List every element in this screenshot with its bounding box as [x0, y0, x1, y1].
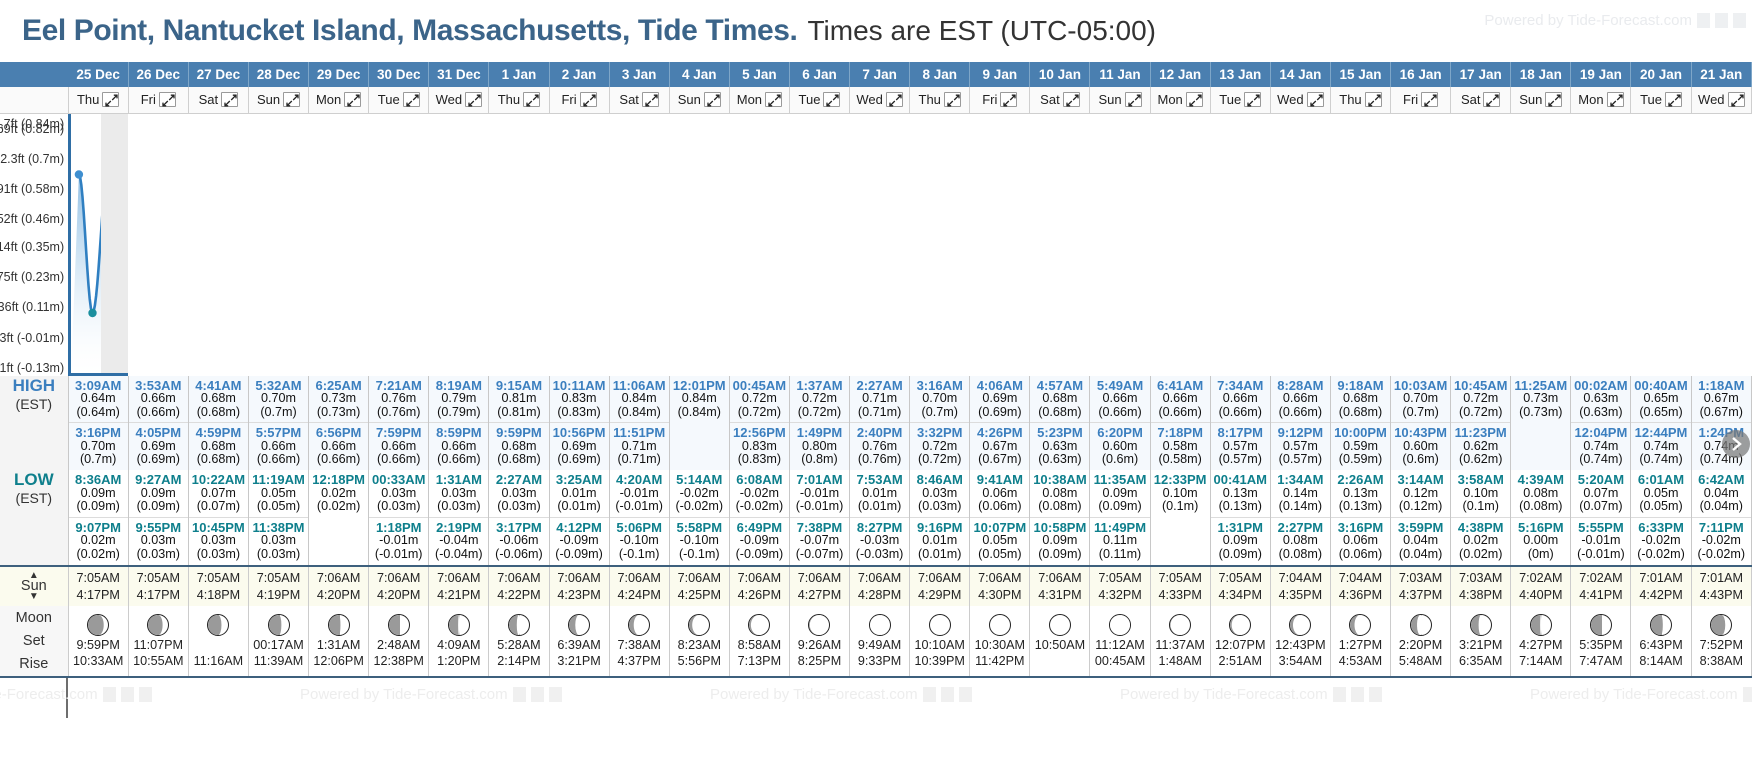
low-tide-cell: 3:25AM0.01m(0.01m)4:12PM-0.09m(-0.09m): [549, 470, 609, 566]
date-header-25[interactable]: 19 Jan: [1571, 62, 1631, 87]
expand-icon[interactable]: [1186, 92, 1203, 107]
moonset-time: 2:20PM: [1399, 638, 1442, 652]
moonset-time: 10:30AM: [975, 638, 1025, 652]
tide-height: 0.70m: [1391, 392, 1450, 406]
sunrise-time: 7:06AM: [670, 571, 729, 585]
date-label: 31 Dec: [437, 67, 481, 82]
tide-height: 0.72m: [790, 392, 849, 406]
sunset-time: 4:31PM: [1030, 588, 1089, 602]
expand-icon[interactable]: [1307, 92, 1324, 107]
sun-cell: 7:06AM4:25PM: [669, 566, 729, 606]
tide-time: 1:31AM: [429, 473, 488, 487]
moon-phase-icon: [1229, 614, 1251, 636]
low-tide-cell: 11:19AM0.05m(0.05m)11:38PM0.03m(0.03m): [248, 470, 308, 566]
tide-event: 5:20AM0.07m(0.07m): [1571, 470, 1630, 518]
date-header-1[interactable]: 26 Dec: [128, 62, 188, 87]
tide-height-alt: (-0.04m): [429, 548, 488, 562]
dow-label: Sun: [1098, 92, 1121, 107]
dow-label: Tue: [378, 92, 400, 107]
tide-time: 6:49PM: [730, 521, 789, 535]
tide-time: 10:11AM: [550, 379, 609, 393]
dow-label: Sat: [199, 92, 219, 107]
moon-phase-icon: [929, 614, 951, 636]
tide-height-alt: (0.57m): [1211, 453, 1270, 467]
date-header-20[interactable]: 14 Jan: [1270, 62, 1330, 87]
tide-event: 3:58AM0.10m(0.1m): [1451, 470, 1510, 518]
high-tide-cell: 3:16AM0.70m(0.7m)3:32PM0.72m(0.72m): [910, 376, 970, 471]
tide-event: 5:06PM-0.10m(-0.1m): [610, 518, 669, 565]
moonrise-time: 11:39AM: [254, 654, 303, 668]
tide-height-alt: (0.68m): [1331, 406, 1390, 420]
tide-event: 00:40AM0.65m(0.65m): [1631, 376, 1690, 424]
watermark-badge-icon: [959, 687, 972, 702]
expand-icon[interactable]: [886, 92, 903, 107]
expand-icon[interactable]: [523, 92, 540, 107]
tide-height: -0.06m: [489, 534, 548, 548]
watermark-badge-icon: [1369, 687, 1382, 702]
tide-height: 0.11m: [1090, 534, 1149, 548]
sunset-time: 4:36PM: [1331, 588, 1390, 602]
date-label: 20 Jan: [1640, 67, 1682, 82]
expand-icon[interactable]: [1244, 92, 1261, 107]
date-header-18[interactable]: 12 Jan: [1150, 62, 1210, 87]
tide-height-alt: (-0.02m): [730, 500, 789, 514]
low-tide-cell: 5:20AM0.07m(0.07m)5:55PM-0.01m(-0.01m): [1571, 470, 1631, 566]
moon-cell: 10:10AM10:39PM: [910, 606, 970, 677]
date-header-7[interactable]: 1 Jan: [489, 62, 549, 87]
tide-height: 0.12m: [1391, 487, 1450, 501]
high-tide-cell: 11:06AM0.84m(0.84m)11:51PM0.71m(0.71m): [609, 376, 669, 471]
expand-icon[interactable]: [344, 92, 361, 107]
scroll-right-button[interactable]: [1722, 430, 1750, 458]
expand-icon[interactable]: [1063, 92, 1080, 107]
tide-height-alt: (-0.01m): [369, 548, 428, 562]
tide-time: 6:20PM: [1090, 426, 1149, 440]
date-header-24[interactable]: 18 Jan: [1511, 62, 1571, 87]
tide-height: 0.05m: [970, 534, 1029, 548]
watermark-badge-icon: [941, 687, 954, 702]
date-label: 10 Jan: [1039, 67, 1081, 82]
tide-event: 5:55PM-0.01m(-0.01m): [1571, 518, 1630, 565]
tide-height: 0.05m: [249, 487, 308, 501]
expand-icon[interactable]: [1483, 92, 1500, 107]
watermark-badge-icon: [139, 687, 152, 702]
tide-event: 9:59PM0.68m(0.68m): [489, 423, 548, 470]
sun-cell: 7:05AM4:17PM: [68, 566, 128, 606]
tide-height-alt: (0.08m): [1030, 500, 1089, 514]
tide-height: 0.66m: [1090, 392, 1149, 406]
expand-icon[interactable]: [1607, 92, 1624, 107]
tide-height-alt: (0.72m): [1451, 406, 1510, 420]
tide-event: 6:08AM-0.02m(-0.02m): [730, 470, 789, 518]
moonrise-time: 8:14AM: [1639, 654, 1682, 668]
tide-height-alt: (0.66m): [369, 453, 428, 467]
sunrise-time: 7:01AM: [1692, 571, 1751, 585]
date-header-9[interactable]: 3 Jan: [609, 62, 669, 87]
date-label: 25 Dec: [76, 67, 120, 82]
date-header-10[interactable]: 4 Jan: [669, 62, 729, 87]
moon-phase-icon: [1169, 614, 1191, 636]
tide-height-alt: (-0.09m): [550, 548, 609, 562]
tide-height: 0.83m: [730, 440, 789, 454]
tide-height-alt: (0.57m): [1271, 453, 1330, 467]
dow-cell-8: Fri: [549, 87, 609, 113]
watermark-badge-icon: [121, 687, 134, 702]
y-axis: 2.7ft (0.84m)2.69ft (0.82m)2.3ft (0.7m)1…: [0, 114, 68, 376]
tide-time: 9:15AM: [489, 379, 548, 393]
tide-height: 0.08m: [1271, 534, 1330, 548]
low-tide-cell: 2:27AM0.03m(0.03m)3:17PM-0.06m(-0.06m): [489, 470, 549, 566]
tide-time: 5:16PM: [1511, 521, 1570, 535]
low-tide-cell: 4:20AM-0.01m(-0.01m)5:06PM-0.10m(-0.1m): [609, 470, 669, 566]
low-tide-cell: 1:34AM0.14m(0.14m)2:27PM0.08m(0.08m): [1270, 470, 1330, 566]
tide-event: 3:14AM0.12m(0.12m): [1391, 470, 1450, 518]
low-tide-label: LOW (EST): [0, 470, 68, 566]
high-tide-cell: 3:53AM0.66m(0.66m)4:05PM0.69m(0.69m): [128, 376, 188, 471]
tide-time: 10:07PM: [970, 521, 1029, 535]
low-tide-cell: 5:14AM-0.02m(-0.02m)5:58PM-0.10m(-0.1m): [669, 470, 729, 566]
tide-height: 0.10m: [1451, 487, 1510, 501]
chevron-right-icon: [1731, 437, 1742, 451]
expand-icon[interactable]: [580, 92, 597, 107]
date-header-16[interactable]: 10 Jan: [1030, 62, 1090, 87]
date-label: 12 Jan: [1159, 67, 1201, 82]
date-header-4[interactable]: 29 Dec: [309, 62, 369, 87]
tide-height: 0.03m: [429, 487, 488, 501]
tide-height-alt: (0.84m): [670, 406, 729, 420]
tide-time: 9:18AM: [1331, 379, 1390, 393]
dow-cell-10: Sun: [669, 87, 729, 113]
sunrise-time: 7:06AM: [309, 571, 368, 585]
expand-icon[interactable]: [221, 92, 238, 107]
dow-label: Sat: [1040, 92, 1060, 107]
tide-event: 12:44PM0.74m(0.74m): [1631, 423, 1690, 470]
sunrise-time: 7:02AM: [1571, 571, 1630, 585]
expand-icon[interactable]: [1421, 92, 1438, 107]
tide-time: 3:58AM: [1451, 473, 1510, 487]
moon-phase-icon: [1289, 614, 1311, 636]
tide-height-alt: (0.09m): [1090, 500, 1149, 514]
low-tide-cell: 1:31AM0.03m(0.03m)2:19PM-0.04m(-0.04m): [429, 470, 489, 566]
tide-time: 4:38PM: [1451, 521, 1510, 535]
tide-event: 5:57PM0.66m(0.66m): [249, 423, 308, 470]
dow-label: Thu: [1339, 92, 1361, 107]
date-header-22[interactable]: 16 Jan: [1391, 62, 1451, 87]
moon-row: Moon Set Rise 9:59PM10:33AM11:07PM10:55A…: [0, 606, 1752, 677]
dow-cell-0: Thu: [68, 87, 128, 113]
tide-time: 8:17PM: [1211, 426, 1270, 440]
tide-height: 0.03m: [129, 534, 188, 548]
tide-time: 5:49AM: [1090, 379, 1149, 393]
tide-height: 0.67m: [1692, 392, 1751, 406]
moon-phase-icon: [508, 614, 530, 636]
tide-height: 0.03m: [369, 487, 428, 501]
dow-label: Tue: [799, 92, 821, 107]
expand-icon[interactable]: [642, 92, 659, 107]
expand-icon[interactable]: [704, 92, 721, 107]
dow-label: Fri: [141, 92, 156, 107]
tide-height-alt: (-0.01m): [790, 500, 849, 514]
date-header-14[interactable]: 8 Jan: [910, 62, 970, 87]
tide-height-alt: (-0.02m): [670, 500, 729, 514]
moon-phase-icon: [207, 614, 229, 636]
tide-time: 10:58PM: [1030, 521, 1089, 535]
date-label: 13 Jan: [1219, 67, 1261, 82]
date-header-21[interactable]: 15 Jan: [1330, 62, 1390, 87]
tide-height: 0.03m: [489, 487, 548, 501]
dow-label: Tue: [1219, 92, 1241, 107]
tide-time: 9:16PM: [910, 521, 969, 535]
sun-cell: 7:05AM4:18PM: [188, 566, 248, 606]
sun-cell: 7:01AM4:42PM: [1631, 566, 1691, 606]
date-header-12[interactable]: 6 Jan: [789, 62, 849, 87]
sunset-time: 4:27PM: [790, 588, 849, 602]
date-label: 21 Jan: [1700, 67, 1742, 82]
tide-height: -0.09m: [550, 534, 609, 548]
tide-height-alt: (0.01m): [910, 548, 969, 562]
y-axis-tick-label: -0.41ft (-0.13m): [0, 361, 64, 375]
tide-event: 6:25AM0.73m(0.73m): [309, 376, 368, 424]
tide-event: 8:36AM0.09m(0.09m): [69, 470, 128, 518]
tide-time: 5:23PM: [1030, 426, 1089, 440]
expand-icon[interactable]: [765, 92, 782, 107]
tide-event: 3:53AM0.66m(0.66m): [129, 376, 188, 424]
dow-label: Mon: [1578, 92, 1603, 107]
tide-height: 0.67m: [970, 440, 1029, 454]
tide-height: 0.02m: [1451, 534, 1510, 548]
y-axis-cell: 2.7ft (0.84m)2.69ft (0.82m)2.3ft (0.7m)1…: [0, 113, 68, 376]
tide-height: 0.72m: [730, 392, 789, 406]
dow-label: Mon: [316, 92, 341, 107]
sunset-time: 4:43PM: [1692, 588, 1751, 602]
date-header-27[interactable]: 21 Jan: [1691, 62, 1751, 87]
date-header-6[interactable]: 31 Dec: [429, 62, 489, 87]
moonrise-time: 8:25PM: [798, 654, 841, 668]
tide-height-alt: (0.06m): [1331, 548, 1390, 562]
tide-event: 3:16PM0.70m(0.7m): [69, 423, 128, 470]
expand-icon[interactable]: [102, 92, 119, 107]
tide-event: 2:27AM0.03m(0.03m): [489, 470, 548, 518]
moonrise-time: 10:33AM: [73, 654, 123, 668]
tide-time: 1:49PM: [790, 426, 849, 440]
sunrise-time: 7:02AM: [1511, 571, 1570, 585]
tide-height: -0.01m: [1571, 534, 1630, 548]
high-tide-cell: 1:37AM0.72m(0.72m)1:49PM0.80m(0.8m): [789, 376, 849, 471]
tide-event: 10:58PM0.09m(0.09m): [1030, 518, 1089, 565]
tide-event: 4:05PM0.69m(0.69m): [129, 423, 188, 470]
dow-label: Sat: [1461, 92, 1481, 107]
tide-height-alt: (0.12m): [1391, 500, 1450, 514]
dow-cell-14: Thu: [910, 87, 970, 113]
tide-time: 6:56PM: [309, 426, 368, 440]
tide-event: 7:34AM0.66m(0.66m): [1211, 376, 1270, 424]
tide-event: 10:43PM0.60m(0.6m): [1391, 423, 1450, 470]
dow-cell-21: Thu: [1330, 87, 1390, 113]
dow-cell-12: Tue: [789, 87, 849, 113]
tide-event: 12:18PM0.02m(0.02m): [309, 470, 368, 517]
tide-height-alt: (0.73m): [309, 406, 368, 420]
tide-event: 2:27PM0.08m(0.08m): [1271, 518, 1330, 565]
tide-height-alt: (0.03m): [189, 548, 248, 562]
date-header-15[interactable]: 9 Jan: [970, 62, 1030, 87]
tide-time: 5:32AM: [249, 379, 308, 393]
moonset-time: 1:31AM: [317, 638, 360, 652]
expand-icon[interactable]: [403, 92, 420, 107]
tide-height-alt: (0.83m): [730, 453, 789, 467]
tide-height: 0.70m: [69, 440, 128, 454]
tide-height-alt: (0.66m): [309, 453, 368, 467]
dow-cell-22: Fri: [1391, 87, 1451, 113]
date-header-2[interactable]: 27 Dec: [188, 62, 248, 87]
dow-cell-18: Mon: [1150, 87, 1210, 113]
tide-event: 6:20PM0.60m(0.6m): [1090, 423, 1149, 470]
low-label-text: LOW: [0, 470, 68, 490]
tide-chart: [68, 113, 128, 376]
sunrise-time: 7:06AM: [1030, 571, 1089, 585]
expand-icon[interactable]: [944, 92, 961, 107]
tide-event: 9:18AM0.68m(0.68m): [1331, 376, 1390, 424]
tide-time: 1:37AM: [790, 379, 849, 393]
tide-event: 6:33PM-0.02m(-0.02m): [1631, 518, 1690, 565]
date-label: 6 Jan: [802, 67, 837, 82]
date-label: 3 Jan: [622, 67, 657, 82]
tide-table: 25 Dec26 Dec27 Dec28 Dec29 Dec30 Dec31 D…: [0, 62, 1752, 678]
chart-row: 2.7ft (0.84m)2.69ft (0.82m)2.3ft (0.7m)1…: [0, 113, 1752, 376]
tide-event: 10:45AM0.72m(0.72m): [1451, 376, 1510, 424]
high-tide-cell: 2:27AM0.71m(0.71m)2:40PM0.76m(0.76m): [850, 376, 910, 471]
date-header-5[interactable]: 30 Dec: [369, 62, 429, 87]
tide-time: 4:57AM: [1030, 379, 1089, 393]
tide-height-alt: (0.72m): [790, 406, 849, 420]
dow-label: Wed: [856, 92, 883, 107]
date-header-17[interactable]: 11 Jan: [1090, 62, 1150, 87]
tide-height: 0.71m: [850, 392, 909, 406]
tide-event: 9:07PM0.02m(0.02m): [69, 518, 128, 565]
tide-height-alt: (0.84m): [610, 406, 669, 420]
tide-height: 0.07m: [189, 487, 248, 501]
expand-icon[interactable]: [1125, 92, 1142, 107]
date-header-26[interactable]: 20 Jan: [1631, 62, 1691, 87]
moonset-time: 7:38AM: [617, 638, 660, 652]
expand-icon[interactable]: [159, 92, 176, 107]
sun-cell: 7:05AM4:17PM: [128, 566, 188, 606]
tide-time: 2:27PM: [1271, 521, 1330, 535]
date-header-8[interactable]: 2 Jan: [549, 62, 609, 87]
date-header-19[interactable]: 13 Jan: [1210, 62, 1270, 87]
tide-time: 11:49PM: [1090, 521, 1149, 535]
high-tide-cell: 4:57AM0.68m(0.68m)5:23PM0.63m(0.63m): [1030, 376, 1090, 471]
sun-row: ▲ Sun ▼ 7:05AM4:17PM7:05AM4:17PM7:05AM4:…: [0, 566, 1752, 606]
tide-height: 0.03m: [249, 534, 308, 548]
moonset-time: 6:39AM: [557, 638, 600, 652]
footer-watermark: Powered by Tide-Forecast.com: [300, 686, 562, 703]
expand-icon[interactable]: [1545, 92, 1562, 107]
sun-cell: 7:06AM4:24PM: [609, 566, 669, 606]
tide-height: -0.09m: [730, 534, 789, 548]
date-header-3[interactable]: 28 Dec: [248, 62, 308, 87]
watermark-text: Powered by Tide-Forecast.com: [300, 686, 508, 703]
low-tide-row: LOW (EST) 8:36AM0.09m(0.09m)9:07PM0.02m(…: [0, 470, 1752, 566]
date-label: 7 Jan: [862, 67, 897, 82]
date-label: 8 Jan: [922, 67, 957, 82]
tide-time: 11:19AM: [249, 473, 308, 487]
dow-cell-1: Fri: [128, 87, 188, 113]
tide-time: 5:20AM: [1571, 473, 1630, 487]
high-tide-cell: 10:45AM0.72m(0.72m)11:23PM0.62m(0.62m): [1451, 376, 1511, 471]
tide-height-alt: (0.66m): [1211, 406, 1270, 420]
dow-cell-3: Sun: [248, 87, 308, 113]
moonrise-time: 11:42PM: [975, 654, 1024, 668]
moonrise-time: 1:20PM: [437, 654, 480, 668]
tide-height-alt: (0.8m): [790, 453, 849, 467]
dow-label: Sun: [257, 92, 280, 107]
moon-cell: 9:49AM9:33PM: [850, 606, 910, 677]
tide-time: 2:19PM: [429, 521, 488, 535]
tide-height-alt: (-0.06m): [489, 548, 548, 562]
tide-height-alt: (0.11m): [1090, 548, 1149, 562]
date-header-13[interactable]: 7 Jan: [850, 62, 910, 87]
tide-event: 2:40PM0.76m(0.76m): [850, 423, 909, 470]
sun-cell: 7:05AM4:19PM: [248, 566, 308, 606]
tide-height: 0.66m: [429, 440, 488, 454]
tide-event: 4:41AM0.68m(0.68m): [189, 376, 248, 424]
expand-icon[interactable]: [1665, 92, 1682, 107]
moonrise-time: 7:47AM: [1579, 654, 1622, 668]
moonset-time: 11:12AM: [1095, 638, 1144, 652]
footer-watermark: Powered by Tide-Forecast.com: [0, 686, 152, 703]
tide-time: 12:44PM: [1631, 426, 1690, 440]
tide-time: 6:25AM: [309, 379, 368, 393]
moonset-time: 3:21PM: [1459, 638, 1502, 652]
tide-height: 0.63m: [1030, 440, 1089, 454]
date-header-0[interactable]: 25 Dec: [68, 62, 128, 87]
tide-time: 00:02AM: [1571, 379, 1630, 393]
tide-event: 8:28AM0.66m(0.66m): [1271, 376, 1330, 424]
tide-event: 6:41AM0.66m(0.66m): [1151, 376, 1210, 424]
moon-cell: 11:07PM10:55AM: [128, 606, 188, 677]
date-header-23[interactable]: 17 Jan: [1451, 62, 1511, 87]
tide-event: 3:32PM0.72m(0.72m): [910, 423, 969, 470]
expand-icon[interactable]: [823, 92, 840, 107]
date-header-11[interactable]: 5 Jan: [729, 62, 789, 87]
date-label: 4 Jan: [682, 67, 717, 82]
moonrise-time: 12:38PM: [374, 654, 424, 668]
tide-height-alt: (0.09m): [1211, 548, 1270, 562]
dow-cell-17: Sun: [1090, 87, 1150, 113]
tide-height: 0.60m: [1391, 440, 1450, 454]
tide-event: 12:04PM0.74m(0.74m): [1571, 423, 1630, 470]
expand-icon[interactable]: [283, 92, 300, 107]
tide-time: 7:01AM: [790, 473, 849, 487]
expand-icon[interactable]: [1365, 92, 1382, 107]
expand-icon[interactable]: [465, 92, 482, 107]
sunset-time: 4:26PM: [730, 588, 789, 602]
tide-height-alt: (-0.1m): [610, 548, 669, 562]
tide-height-alt: (0.09m): [1030, 548, 1089, 562]
expand-icon[interactable]: [1728, 92, 1745, 107]
high-tide-cell: 7:21AM0.76m(0.76m)7:59PM0.66m(0.66m): [369, 376, 429, 471]
moon-cell: 9:59PM10:33AM: [68, 606, 128, 677]
moon-cell: 4:09AM1:20PM: [429, 606, 489, 677]
y-axis-tick-label: 1.91ft (0.58m): [0, 182, 64, 196]
tide-height: 0.81m: [489, 392, 548, 406]
high-tide-cell: 6:25AM0.73m(0.73m)6:56PM0.66m(0.66m): [309, 376, 369, 471]
low-tide-cell: 6:08AM-0.02m(-0.02m)6:49PM-0.09m(-0.09m): [729, 470, 789, 566]
sunrise-time: 7:05AM: [1090, 571, 1149, 585]
expand-icon[interactable]: [1000, 92, 1017, 107]
tide-height-alt: (0.03m): [129, 548, 188, 562]
watermark-text: Powered by Tide-Forecast.com: [0, 686, 98, 703]
